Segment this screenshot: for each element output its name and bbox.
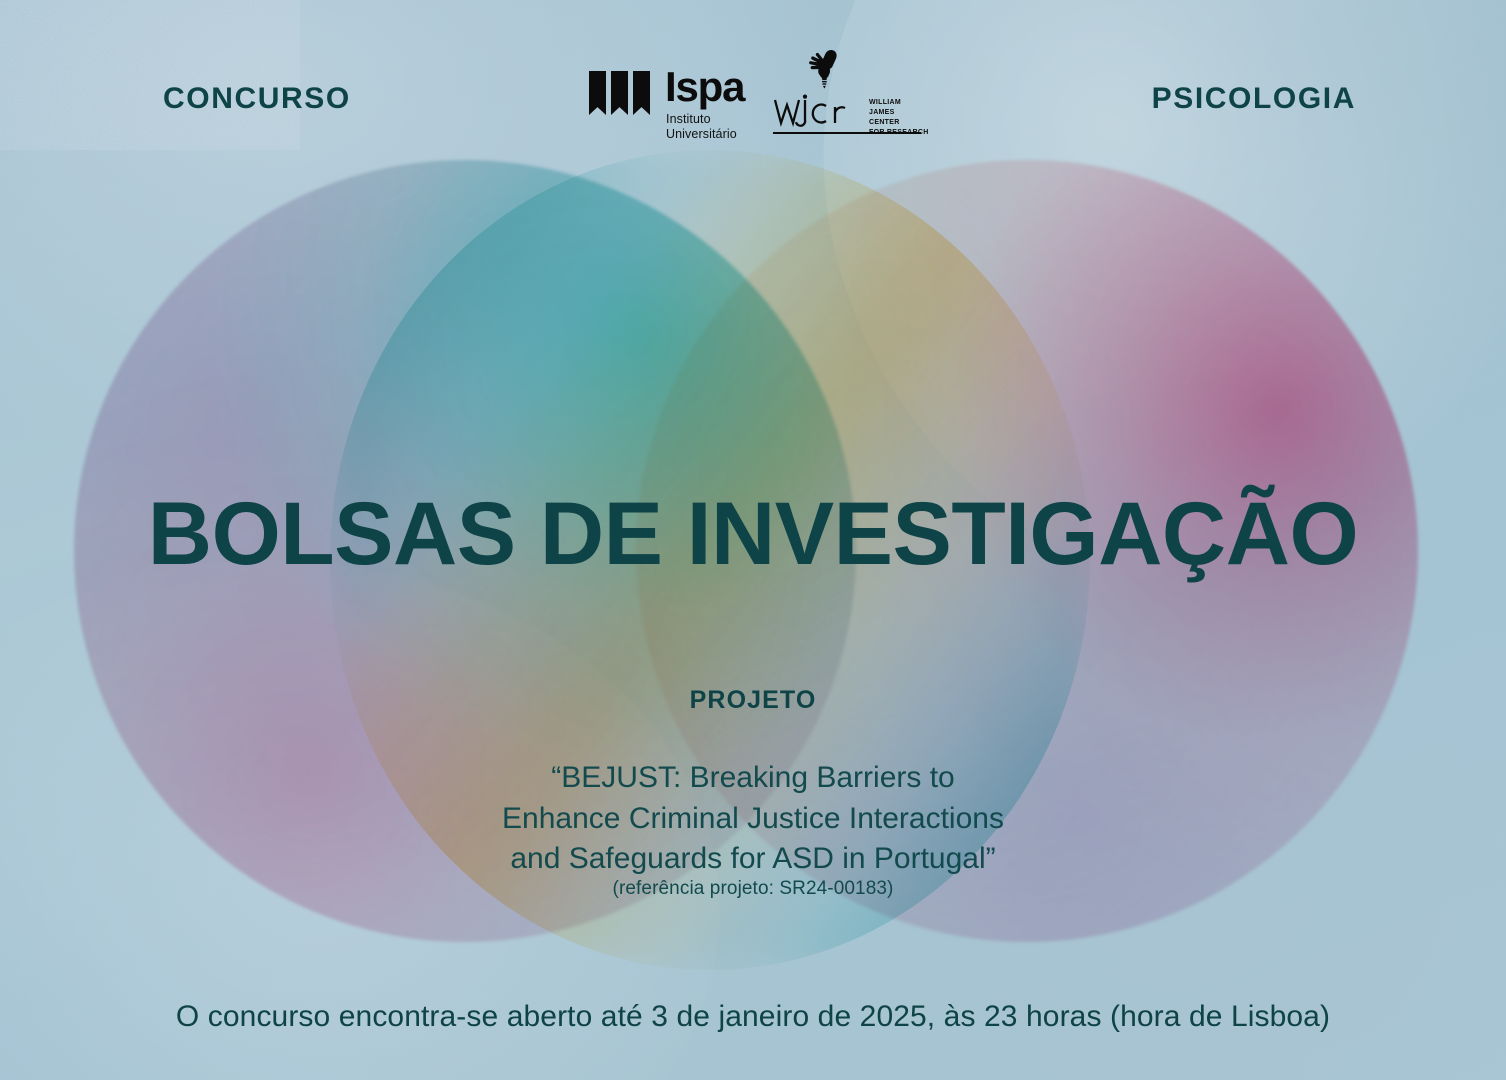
deadline-text: O concurso encontra-se aberto até 3 de j… bbox=[0, 1000, 1506, 1034]
ispa-logo[interactable]: Ispa Instituto Universitário bbox=[589, 68, 741, 140]
ispa-three-bars-icon bbox=[589, 71, 650, 115]
wjcr-tagline-line3: CENTER bbox=[869, 118, 929, 128]
ispa-subtitle: Instituto Universitário bbox=[666, 112, 737, 142]
project-title-line3: and Safeguards for ASD in Portugal” bbox=[0, 839, 1506, 880]
wjcr-wordmark-icon bbox=[773, 94, 863, 128]
wjcr-logo[interactable]: WILLIAM JAMES CENTER FOR RESEARCH bbox=[773, 50, 929, 146]
ispa-subtitle-line1: Instituto bbox=[666, 112, 737, 127]
kicker-psicologia: PSICOLOGIA bbox=[1152, 82, 1356, 116]
wjcr-tagline-line1: WILLIAM bbox=[869, 98, 929, 108]
poster-canvas: CONCURSO PSICOLOGIA Ispa Instituto Unive… bbox=[0, 0, 1506, 1080]
project-title-line2: Enhance Criminal Justice Interactions bbox=[0, 799, 1506, 840]
wjcr-tagline-line2: JAMES bbox=[869, 108, 929, 118]
ispa-wordmark: Ispa bbox=[665, 66, 744, 108]
kicker-concurso: CONCURSO bbox=[163, 82, 351, 116]
wjcr-underline bbox=[773, 132, 921, 134]
hand-holding-lightbulb-icon bbox=[801, 50, 847, 94]
project-reference: (referência projeto: SR24-00183) bbox=[0, 878, 1506, 900]
projeto-label: PROJETO bbox=[0, 686, 1506, 715]
page-title: BOLSAS DE INVESTIGAÇÃO bbox=[0, 489, 1506, 578]
project-title-line1: “BEJUST: Breaking Barriers to bbox=[0, 758, 1506, 799]
ispa-subtitle-line2: Universitário bbox=[666, 127, 737, 142]
project-title: “BEJUST: Breaking Barriers to Enhance Cr… bbox=[0, 758, 1506, 880]
